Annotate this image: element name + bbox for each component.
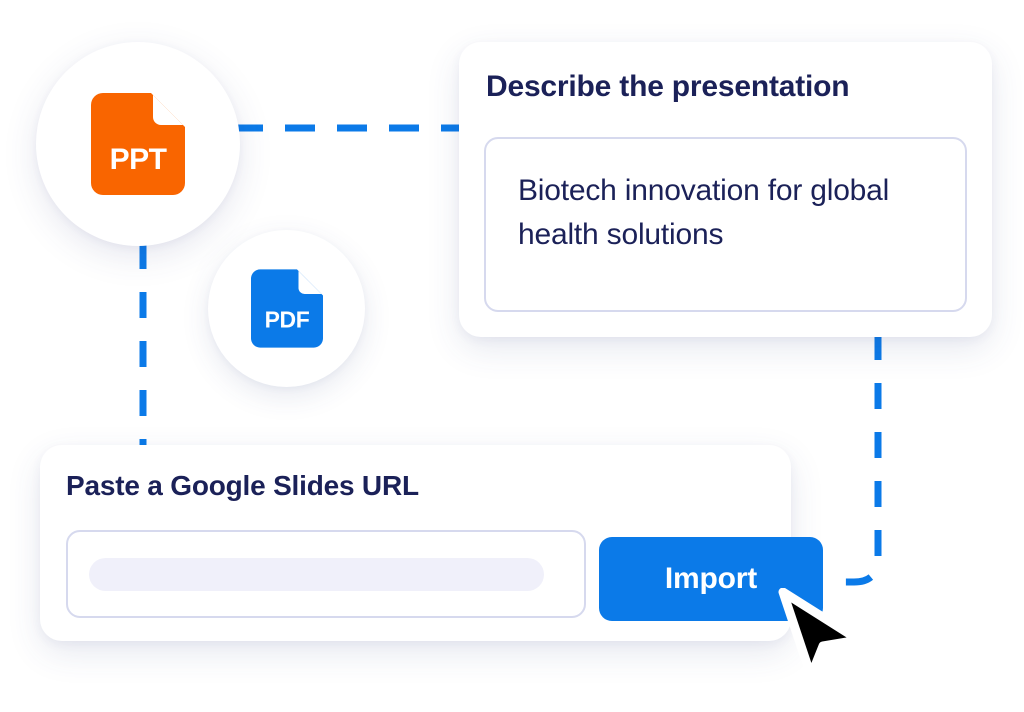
mouse-pointer-arrow-icon bbox=[775, 588, 865, 680]
ppt-icon-circle[interactable]: PPT PPT bbox=[36, 42, 240, 246]
google-slides-url-input[interactable] bbox=[66, 530, 586, 618]
connector-describe-to-import bbox=[820, 334, 878, 582]
svg-text:PPT: PPT bbox=[110, 143, 167, 176]
url-card-title: Paste a Google Slides URL bbox=[66, 470, 419, 502]
describe-card-title: Describe the presentation bbox=[486, 70, 849, 104]
svg-text:PDF: PDF bbox=[264, 307, 309, 333]
describe-presentation-card: Describe the presentation Biotech innova… bbox=[459, 42, 992, 337]
illustration-canvas: PPT PPT PDF PDF Describe the presentatio… bbox=[0, 0, 1024, 712]
presentation-description-value: Biotech innovation for global health sol… bbox=[518, 169, 928, 256]
url-placeholder-bar bbox=[89, 558, 544, 591]
presentation-description-textarea[interactable]: Biotech innovation for global health sol… bbox=[484, 137, 967, 312]
pdf-icon-circle[interactable]: PDF PDF bbox=[208, 230, 365, 387]
pdf-file-icon: PDF bbox=[251, 269, 323, 348]
ppt-file-icon: PPT bbox=[91, 93, 185, 195]
